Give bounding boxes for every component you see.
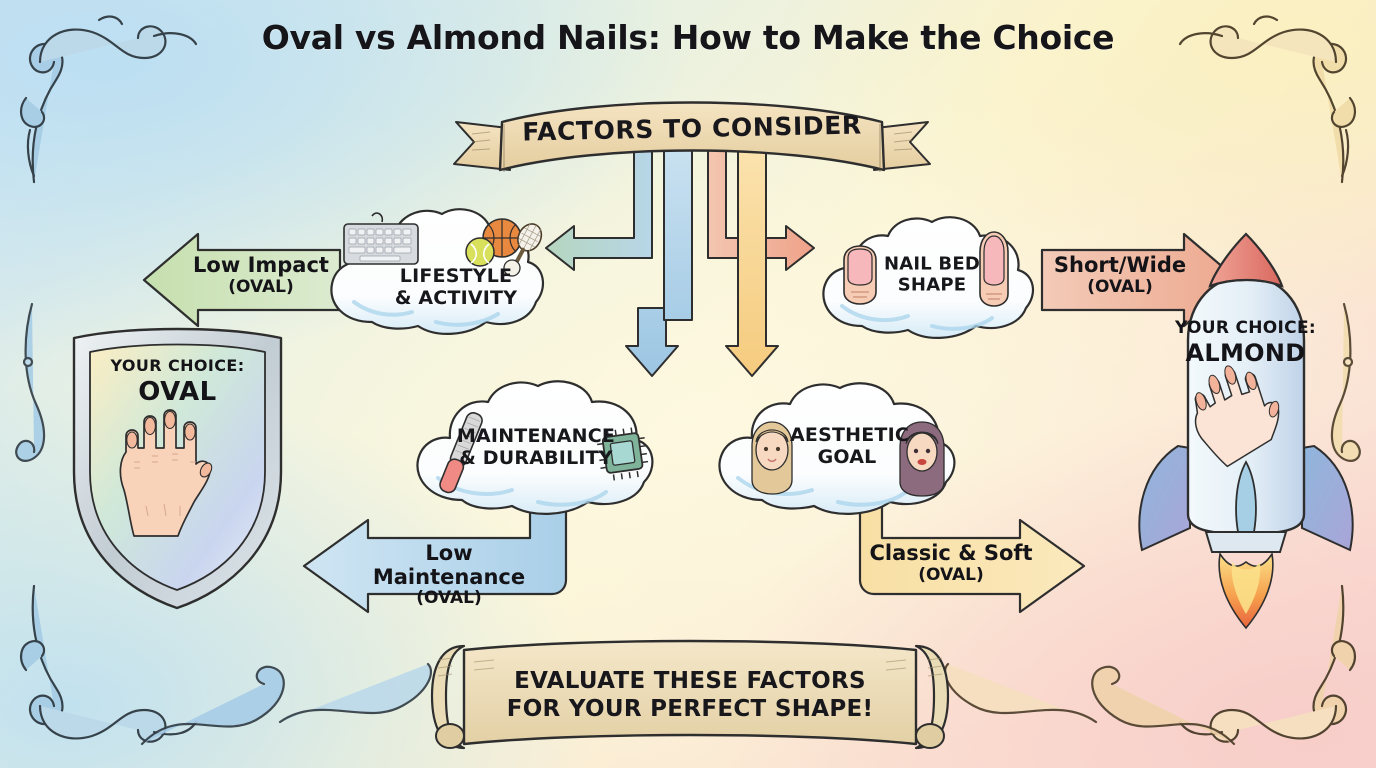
factor-cloud-aesthetic: AESTHETIC GOAL — [706, 382, 986, 518]
arrow-low-impact: Low Impact (OVAL) — [140, 232, 340, 328]
banner-factors-to-consider: FACTORS TO CONSIDER — [452, 94, 932, 190]
factor-cloud-maintenance: MAINTENANCE & DURABILITY — [404, 378, 684, 518]
infographic-canvas: Oval vs Almond Nails: How to Make the Ch… — [0, 0, 1376, 768]
bottom-swirl-right — [936, 644, 1236, 764]
factor-cloud-lifestyle: LIFESTYLE & ACTIVITY — [318, 204, 554, 344]
factor-cloud-nailbed: NAIL BED SHAPE — [812, 212, 1044, 344]
outcome-rocket-almond: YOUR CHOICE: ALMOND — [1128, 232, 1363, 632]
footer-scroll: EVALUATE THESE FACTORS FOR YOUR PERFECT … — [420, 632, 960, 762]
bottom-swirl-left — [140, 644, 440, 764]
page-title: Oval vs Almond Nails: How to Make the Ch… — [0, 18, 1376, 57]
outcome-shield-oval: YOUR CHOICE: OVAL — [60, 322, 295, 612]
